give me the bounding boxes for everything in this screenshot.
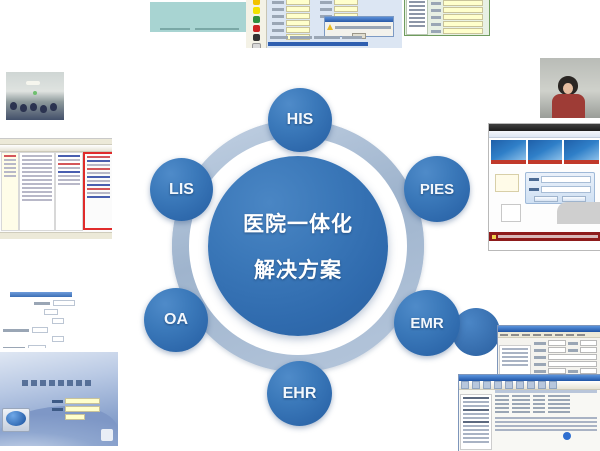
hospital-integration-diagram: 医院一体化 解决方案 HIS PIES EMR EHR OA LIS bbox=[140, 58, 470, 450]
highlighted-region bbox=[83, 152, 112, 230]
circle-icon bbox=[252, 43, 261, 48]
person-silhouette bbox=[50, 103, 57, 111]
thumbnail-top-teal[interactable] bbox=[150, 0, 250, 46]
exit-sign bbox=[33, 91, 37, 95]
portal-login-card[interactable] bbox=[525, 172, 595, 204]
person-face bbox=[563, 83, 573, 94]
username-label bbox=[52, 400, 63, 403]
form-column-left bbox=[270, 0, 312, 41]
alert-icon bbox=[253, 25, 260, 32]
decorative-shape bbox=[557, 202, 600, 224]
node-his[interactable]: HIS bbox=[268, 88, 332, 152]
row-header-column bbox=[1, 152, 19, 231]
selected-row bbox=[268, 42, 368, 46]
password-input[interactable] bbox=[541, 186, 591, 193]
data-column-1 bbox=[19, 152, 55, 231]
report-table bbox=[493, 388, 599, 450]
screenshot-canvas: 医院一体化 解决方案 HIS PIES EMR EHR OA LIS bbox=[0, 0, 600, 451]
diagram-center[interactable]: 医院一体化 解决方案 bbox=[208, 156, 388, 336]
node-oa[interactable]: OA bbox=[144, 288, 208, 352]
cursor-marker bbox=[563, 432, 571, 440]
leaf-icon bbox=[253, 16, 260, 23]
people-icon bbox=[495, 174, 519, 192]
browser-toolbar[interactable] bbox=[489, 131, 600, 138]
node-pies[interactable]: PIES bbox=[404, 156, 470, 222]
table-header bbox=[495, 390, 597, 393]
thumbnail-right-photo[interactable] bbox=[540, 58, 600, 118]
table-row bbox=[495, 395, 597, 397]
banner-image[interactable] bbox=[491, 140, 526, 164]
banner-image[interactable] bbox=[564, 140, 599, 164]
banner-image[interactable] bbox=[528, 140, 563, 164]
table-row bbox=[495, 411, 597, 413]
thumbnail-br-window-b[interactable] bbox=[458, 374, 600, 451]
browser-titlebar bbox=[489, 124, 600, 131]
brand-logo bbox=[101, 429, 113, 441]
center-title-line-1: 医院一体化 bbox=[243, 208, 353, 238]
footer-copyright bbox=[498, 235, 598, 238]
thumbnail-bottom-left-form[interactable] bbox=[0, 290, 78, 348]
table-row bbox=[495, 403, 597, 405]
submit-button[interactable] bbox=[534, 196, 558, 202]
person-silhouette bbox=[10, 102, 17, 110]
tool-bar[interactable] bbox=[0, 145, 112, 152]
icon-sidebar bbox=[246, 0, 267, 48]
login-panel[interactable] bbox=[52, 398, 100, 418]
tree-panel bbox=[406, 0, 428, 35]
node-ehr[interactable]: EHR bbox=[267, 361, 332, 426]
password-input[interactable] bbox=[65, 406, 100, 412]
account-input[interactable] bbox=[541, 176, 591, 183]
thumbnail-top-green[interactable] bbox=[404, 0, 490, 36]
thumbnail-web-portal[interactable] bbox=[488, 123, 600, 251]
node-lis[interactable]: LIS bbox=[150, 158, 213, 221]
node-emr[interactable]: EMR bbox=[394, 290, 460, 356]
account-label bbox=[529, 178, 539, 181]
person-silhouette bbox=[40, 105, 47, 113]
thumbnail-login-splash[interactable] bbox=[0, 352, 118, 446]
note-icon bbox=[253, 7, 260, 14]
footer-badge bbox=[492, 235, 496, 239]
login-button[interactable] bbox=[65, 414, 85, 420]
data-column-2 bbox=[55, 152, 83, 231]
ceiling-light bbox=[26, 81, 40, 85]
thumbnail-left-photo[interactable] bbox=[6, 72, 64, 120]
person-silhouette bbox=[30, 103, 37, 111]
portal-footer bbox=[489, 232, 600, 241]
settings-icon bbox=[253, 34, 260, 41]
warning-icon bbox=[327, 24, 333, 30]
person-silhouette bbox=[20, 104, 27, 112]
password-label bbox=[529, 188, 539, 191]
username-input[interactable] bbox=[65, 398, 100, 404]
menu-bar[interactable] bbox=[498, 332, 600, 338]
password-label bbox=[52, 408, 63, 411]
walking-person-icon bbox=[501, 204, 521, 222]
table-row bbox=[495, 399, 597, 401]
monitor-icon bbox=[2, 408, 30, 432]
warning-dialog[interactable] bbox=[324, 16, 394, 37]
form-panel bbox=[429, 0, 485, 36]
portal-body bbox=[489, 166, 600, 232]
dialog-message bbox=[335, 26, 391, 29]
table-row bbox=[495, 407, 597, 409]
person-body bbox=[552, 94, 585, 118]
teal-text-line bbox=[160, 28, 190, 30]
status-bar bbox=[0, 232, 112, 239]
teal-text-line bbox=[195, 28, 239, 30]
thumbnail-left-grid[interactable] bbox=[0, 138, 112, 239]
center-title-line-2: 解决方案 bbox=[254, 254, 342, 284]
form-header bbox=[10, 292, 72, 297]
folder-icon bbox=[253, 0, 260, 5]
banner-strip bbox=[489, 138, 600, 166]
splash-title bbox=[22, 380, 94, 386]
thumbnail-top-form[interactable] bbox=[246, 0, 402, 48]
